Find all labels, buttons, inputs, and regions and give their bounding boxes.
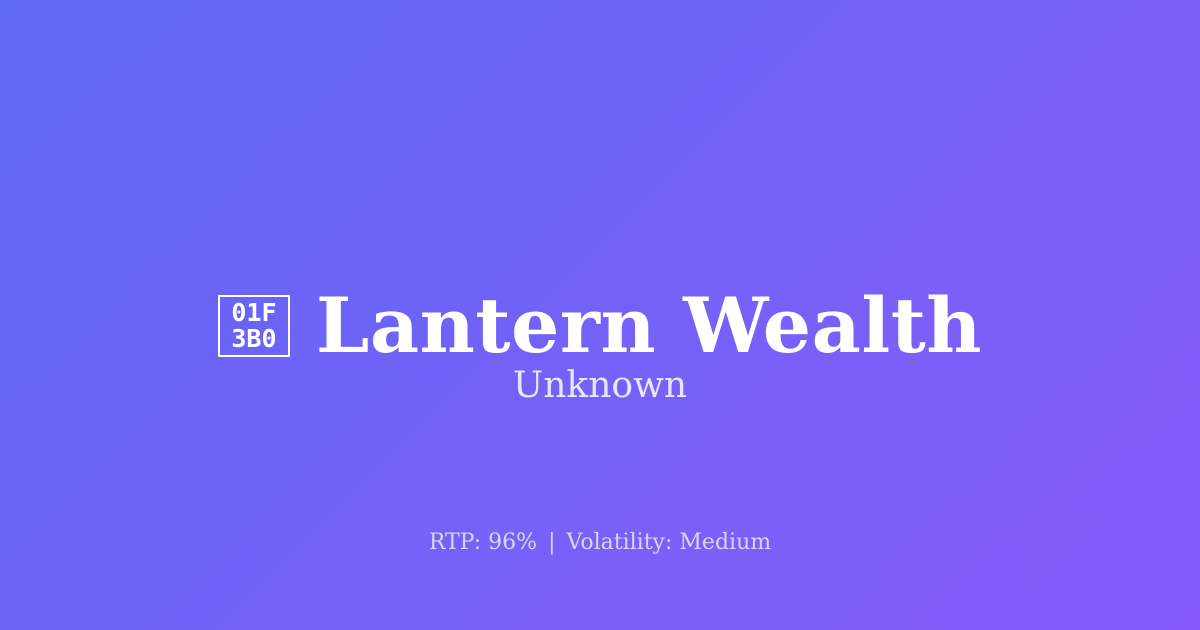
slot-machine-emoji-tofu-icon: 01F 3B0 (218, 295, 290, 357)
meta-separator: | (544, 530, 559, 555)
tofu-codepoint-bottom: 3B0 (231, 326, 276, 352)
page-title: Lantern Wealth (316, 287, 982, 365)
game-og-card: 01F 3B0 Lantern Wealth Unknown RTP: 96% … (0, 0, 1200, 630)
tofu-codepoint-top: 01F (231, 300, 276, 326)
rtp-label: RTP: (429, 530, 481, 555)
game-provider-subtitle: Unknown (0, 364, 1200, 407)
game-meta-line: RTP: 96% | Volatility: Medium (0, 529, 1200, 558)
volatility-value: Medium (679, 530, 771, 555)
rtp-value: 96% (488, 530, 537, 555)
volatility-label: Volatility: (567, 530, 673, 555)
